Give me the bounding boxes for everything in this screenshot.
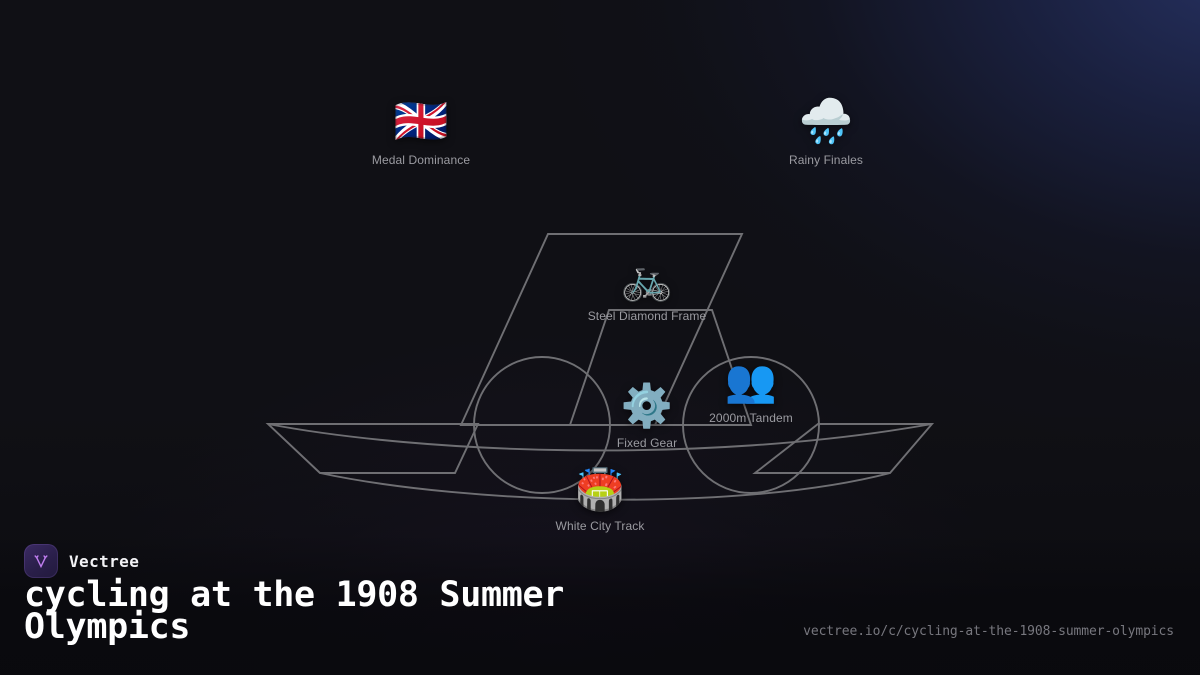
node-label: Rainy Finales [789,153,863,167]
stadium-icon: 🏟️ [575,470,625,510]
two-people-icon: 👥 [725,360,777,402]
gear-icon: ⚙️ [621,385,673,427]
bicycle-icon: 🚲 [621,258,673,300]
node-medal-dominance[interactable]: 🇬🇧 Medal Dominance [372,100,470,167]
bicycle-line-art [0,0,1200,675]
node-rainy-finales[interactable]: 🌧️ Rainy Finales [789,100,863,167]
handlebar-left-wing [268,424,478,473]
node-white-city-track[interactable]: 🏟️ White City Track [556,470,645,533]
node-label: White City Track [556,519,645,533]
vectree-v-logo-icon [24,544,58,578]
node-label: Fixed Gear [617,436,677,450]
node-label: Steel Diamond Frame [588,309,707,323]
rain-cloud-icon: 🌧️ [799,100,854,144]
handlebar-curve-upper [268,424,932,450]
page-url: vectree.io/c/cycling-at-the-1908-summer-… [803,624,1174,639]
node-2000m-tandem[interactable]: 👥 2000m Tandem [709,360,793,425]
brand-lockup[interactable]: Vectree [24,544,139,578]
handlebar-right-wing [755,424,932,473]
node-label: Medal Dominance [372,153,470,167]
node-steel-diamond-frame[interactable]: 🚲 Steel Diamond Frame [588,258,707,323]
node-fixed-gear[interactable]: ⚙️ Fixed Gear [617,385,677,450]
united-kingdom-flag-icon: 🇬🇧 [394,100,449,144]
node-label: 2000m Tandem [709,411,793,425]
page-title: cycling at the 1908 Summer Olympics [24,579,624,643]
brand-name: Vectree [69,552,139,571]
